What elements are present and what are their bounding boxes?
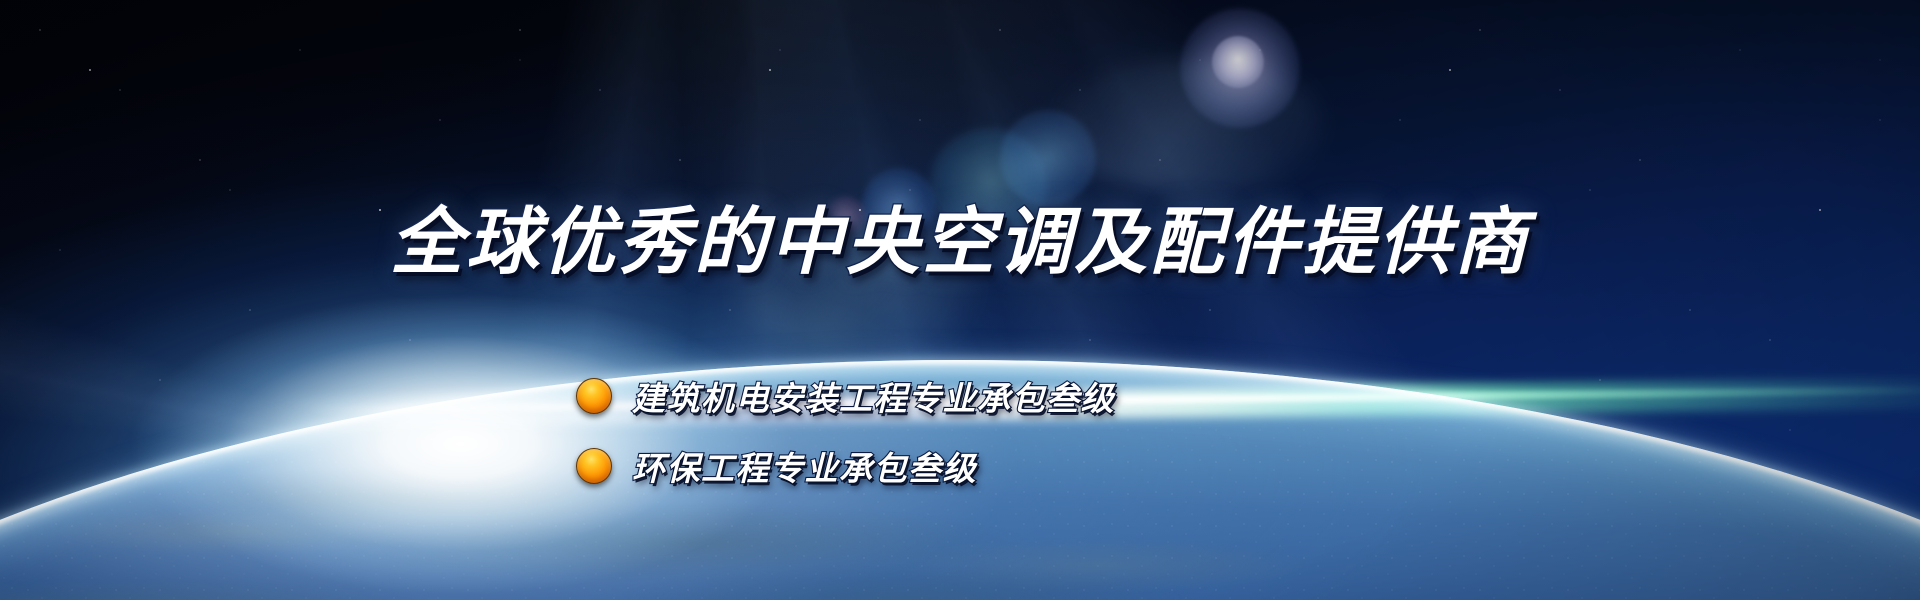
list-item: 建筑机电安装工程专业承包叁级: [576, 372, 1115, 420]
qualification-label: 环保工程专业承包叁级: [632, 442, 977, 490]
hero-banner: 全球优秀的中央空调及配件提供商 建筑机电安装工程专业承包叁级 环保工程专业承包叁…: [0, 0, 1920, 600]
banner-content: 全球优秀的中央空调及配件提供商 建筑机电安装工程专业承包叁级 环保工程专业承包叁…: [0, 0, 1920, 600]
list-item: 环保工程专业承包叁级: [576, 442, 1115, 490]
qualification-list: 建筑机电安装工程专业承包叁级 环保工程专业承包叁级: [576, 372, 1115, 490]
orange-sphere-bullet-icon: [576, 448, 612, 484]
orange-sphere-bullet-icon: [576, 378, 612, 414]
qualification-label: 建筑机电安装工程专业承包叁级: [632, 372, 1115, 420]
banner-headline: 全球优秀的中央空调及配件提供商: [0, 202, 1920, 284]
